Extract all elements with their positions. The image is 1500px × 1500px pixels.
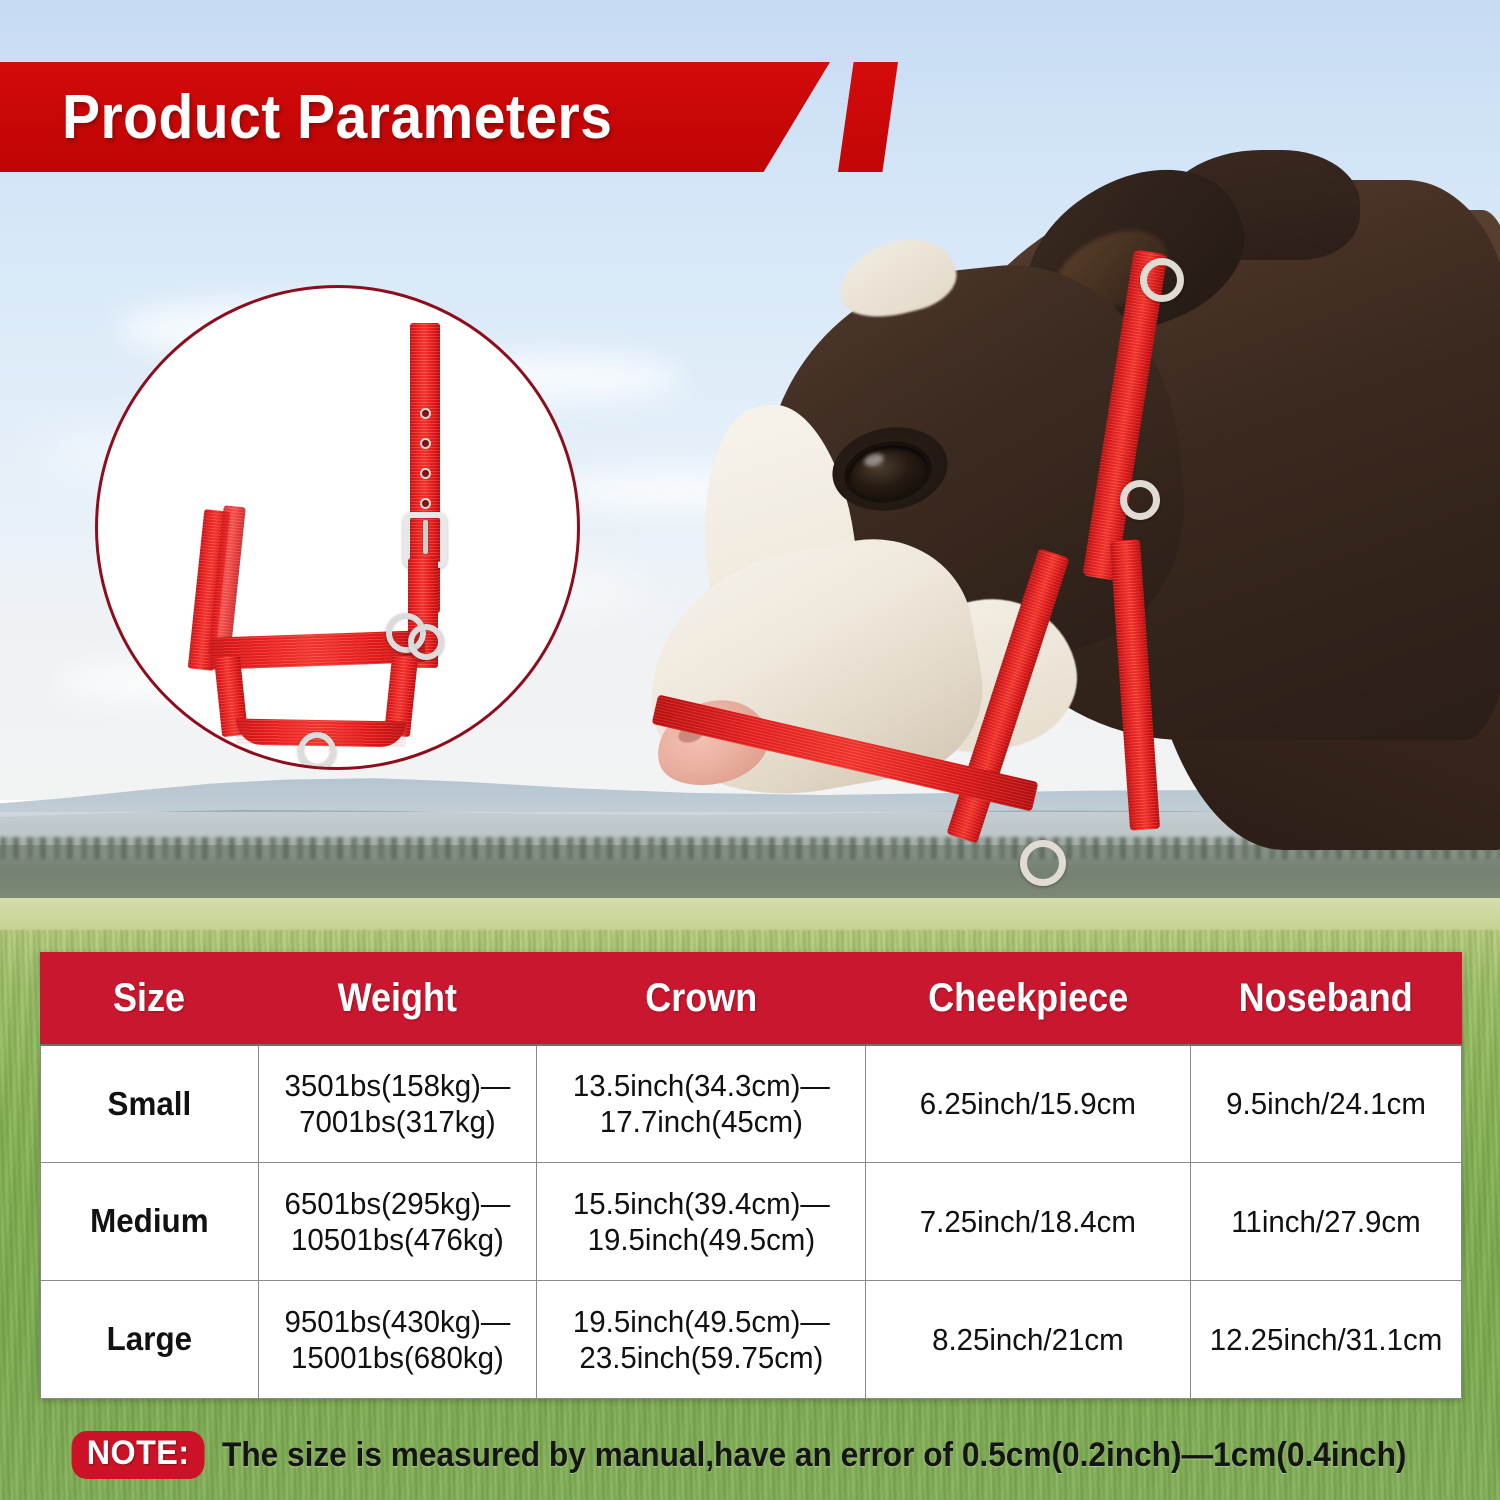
column-header-crown: Crown — [536, 953, 866, 1045]
header-label: Weight — [337, 976, 456, 1021]
cell-noseband: 11inch/27.9cm — [1191, 1163, 1462, 1281]
cell-size: Large — [41, 1281, 259, 1399]
halter-crown-ring — [1140, 258, 1184, 302]
table-row: Large 9501bs(430kg)—15001bs(680kg) 19.5i… — [41, 1281, 1462, 1399]
cell-cheekpiece: 8.25inch/21cm — [866, 1281, 1191, 1399]
table-row: Small 3501bs(158kg)—7001bs(317kg) 13.5in… — [41, 1045, 1462, 1163]
cell-crown: 13.5inch(34.3cm)—17.7inch(45cm) — [536, 1045, 866, 1163]
banner-accent-stripe — [838, 62, 898, 172]
cell-weight: 6501bs(295kg)—10501bs(476kg) — [258, 1163, 536, 1281]
halter-side-ring — [1120, 480, 1160, 520]
table-header-row: Size Weight Crown Cheekpiece Noseband — [41, 953, 1462, 1045]
title-banner: Product Parameters — [0, 62, 900, 172]
crown-hole — [420, 408, 431, 419]
header-label: Crown — [645, 976, 757, 1021]
cell-noseband: 12.25inch/31.1cm — [1191, 1281, 1462, 1399]
note-text: The size is measured by manual,have an e… — [222, 1436, 1406, 1475]
cow-photo — [620, 150, 1500, 940]
column-header-size: Size — [41, 953, 259, 1045]
header-label: Cheekpiece — [928, 976, 1128, 1021]
cell-noseband: 9.5inch/24.1cm — [1191, 1045, 1462, 1163]
buckle-tongue — [423, 520, 428, 554]
product-d-ring — [408, 624, 444, 660]
cell-cheekpiece: 6.25inch/15.9cm — [866, 1045, 1191, 1163]
crown-hole — [420, 498, 431, 509]
column-header-weight: Weight — [258, 953, 536, 1045]
header-label: Noseband — [1239, 976, 1413, 1021]
page-title: Product Parameters — [62, 62, 612, 172]
table-row: Medium 6501bs(295kg)—10501bs(476kg) 15.5… — [41, 1163, 1462, 1281]
product-parameters-table: Size Weight Crown Cheekpiece Noseband Sm… — [40, 952, 1462, 1399]
cell-size: Medium — [41, 1163, 259, 1281]
crown-hole — [420, 438, 431, 449]
halter-lead-ring — [1020, 840, 1066, 886]
cell-crown: 15.5inch(39.4cm)—19.5inch(49.5cm) — [536, 1163, 866, 1281]
cell-cheekpiece: 7.25inch/18.4cm — [866, 1163, 1191, 1281]
header-label: Size — [113, 976, 185, 1021]
product-bottom-ring — [298, 732, 336, 770]
note-bar: NOTE: The size is measured by manual,hav… — [68, 1424, 1458, 1486]
column-header-cheekpiece: Cheekpiece — [866, 953, 1191, 1045]
product-image-inset — [95, 285, 580, 770]
note-badge: NOTE: — [72, 1431, 205, 1479]
cell-weight: 3501bs(158kg)—7001bs(317kg) — [258, 1045, 536, 1163]
crown-hole — [420, 468, 431, 479]
cell-size: Small — [41, 1045, 259, 1163]
cell-crown: 19.5inch(49.5cm)—23.5inch(59.75cm) — [536, 1281, 866, 1399]
cell-weight: 9501bs(430kg)—15001bs(680kg) — [258, 1281, 536, 1399]
column-header-noseband: Noseband — [1191, 953, 1462, 1045]
halter-product-illustration — [98, 288, 577, 767]
